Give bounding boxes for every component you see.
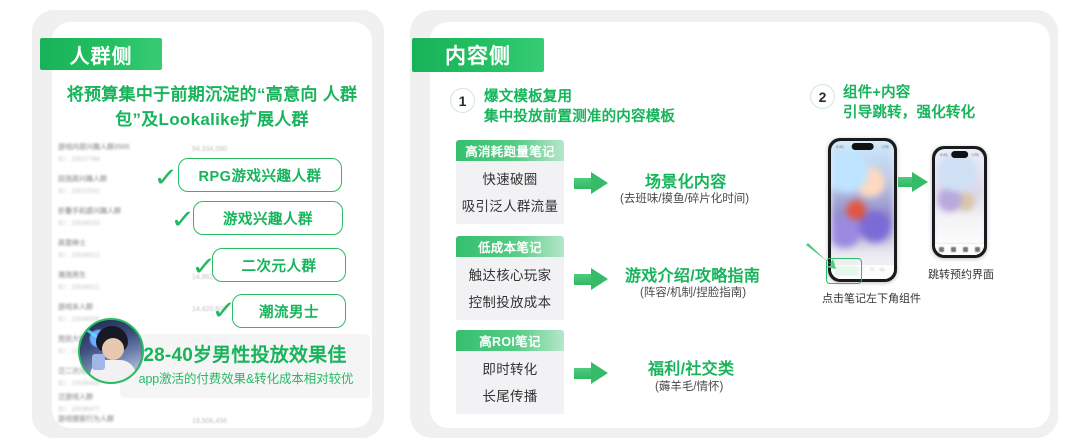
output-title-3: 福利/社交类 bbox=[648, 355, 734, 379]
list-item-name: 折叠手机感兴趣人群 bbox=[58, 206, 121, 216]
note-point: 快速破圈 bbox=[482, 168, 537, 188]
phone-tabbar bbox=[935, 245, 984, 253]
list-item-name: 游戏内容兴趣人群2505 bbox=[58, 142, 130, 152]
arrow-right-icon bbox=[574, 362, 608, 384]
note-point: 吸引泛人群流量 bbox=[462, 195, 559, 215]
list-item-name: 回流高兴趣人群 bbox=[58, 174, 107, 184]
phone-mockup-landing: 9:41 LTE bbox=[932, 146, 987, 258]
left-panel-title: 将预算集中于前期沉淀的“高意向 人群包”及Lookalike扩展人群 bbox=[56, 82, 368, 132]
list-item-id: ID：15036477 bbox=[58, 403, 100, 413]
output-sub-1: (去班味/摸鱼/碎片化时间) bbox=[620, 190, 749, 206]
step-heading-1: 爆文模板复用 集中投放前置测准的内容模板 bbox=[484, 87, 675, 127]
list-item-id: ID：15027766 bbox=[58, 153, 100, 163]
note-point: 长尾传播 bbox=[482, 385, 537, 405]
arrow-right-icon bbox=[574, 268, 608, 290]
list-item-id: ID：15036511 bbox=[58, 281, 99, 291]
status-time: 9:41 bbox=[940, 152, 948, 157]
audience-box-game-interest[interactable]: 游戏兴趣人群 bbox=[193, 201, 343, 235]
pointer-arrow-icon bbox=[806, 243, 840, 269]
output-title-2: 游戏介绍/攻略指南 bbox=[625, 262, 760, 286]
list-item-name: 泛游戏人群 bbox=[58, 392, 93, 402]
list-item-id: ID：15036533 bbox=[58, 217, 100, 227]
note-card-label: 低成本笔记 bbox=[456, 236, 564, 257]
list-item-number: 19,506,456 bbox=[192, 418, 227, 425]
right-section-tag: 内容侧 bbox=[412, 38, 544, 72]
list-item-name: 游戏搜索行为人群 bbox=[58, 414, 114, 424]
audience-box-trendy-men[interactable]: 潮流男士 bbox=[232, 294, 346, 328]
left-section-tag: 人群侧 bbox=[40, 38, 162, 70]
list-item-name: 潮流男生 bbox=[58, 270, 86, 280]
phone-notch bbox=[951, 151, 969, 158]
status-signal: LTE bbox=[882, 144, 889, 149]
list-item-id: ID：15036512 bbox=[58, 249, 100, 259]
checkmark-icon: ✓ bbox=[153, 164, 178, 190]
note-point: 触达核心玩家 bbox=[469, 264, 552, 284]
output-sub-3: (薅羊毛/情怀) bbox=[655, 378, 723, 394]
note-card-points: 触达核心玩家 控制投放成本 bbox=[456, 257, 564, 320]
checkmark-icon: ✓ bbox=[170, 206, 195, 232]
note-action-icons: ♡ ☆ ▭ bbox=[860, 267, 890, 275]
audience-box-acg[interactable]: 二次元人群 bbox=[212, 248, 346, 282]
phone-caption-landing: 跳转预约界面 bbox=[928, 266, 994, 282]
output-sub-2: (阵容/机制/捏脸指南) bbox=[640, 284, 746, 300]
note-card-points: 即时转化 长尾传播 bbox=[456, 351, 564, 414]
step-number-2: 2 bbox=[810, 84, 835, 109]
transition-arrow-icon bbox=[898, 172, 928, 192]
note-card-high-roi[interactable]: 高ROI笔记 即时转化 长尾传播 bbox=[456, 330, 564, 414]
note-card-low-cost[interactable]: 低成本笔记 触达核心玩家 控制投放成本 bbox=[456, 236, 564, 320]
step-number-1: 1 bbox=[450, 88, 475, 113]
note-card-high-spend[interactable]: 高消耗跑量笔记 快速破圈 吸引泛人群流量 bbox=[456, 140, 564, 224]
list-item: 游戏搜索行为人群 ID：15031489 19,506,456 bbox=[52, 414, 372, 425]
list-item-number: 94,334,090 bbox=[192, 146, 227, 153]
list-item-name: 高意绅士 bbox=[58, 238, 86, 248]
highlight-subtitle: app激活的付费效果&转化成本相对较优 bbox=[118, 368, 374, 387]
list-item-name: 游戏本人群 bbox=[58, 302, 93, 312]
infographic-canvas: 人群侧 将预算集中于前期沉淀的“高意向 人群包”及Lookalike扩展人群 游… bbox=[0, 0, 1080, 445]
phone-caption-note: 点击笔记左下角组件 bbox=[822, 290, 921, 306]
audience-box-rpg[interactable]: RPG游戏兴趣人群 bbox=[178, 158, 342, 192]
status-signal: LTE bbox=[972, 152, 979, 157]
note-point: 即时转化 bbox=[482, 358, 537, 378]
step-heading-2: 组件+内容 引导跳转，强化转化 bbox=[843, 83, 975, 123]
output-title-1: 场景化内容 bbox=[645, 168, 727, 192]
arrow-right-icon bbox=[574, 172, 608, 194]
phone-notch bbox=[851, 143, 874, 150]
list-item-id: ID：15037502 bbox=[58, 185, 100, 195]
highlight-title: 28-40岁男性投放效果佳 bbox=[120, 340, 370, 367]
note-card-label: 高ROI笔记 bbox=[456, 330, 564, 351]
note-point: 控制投放成本 bbox=[469, 291, 552, 311]
status-time: 9:41 bbox=[836, 144, 844, 149]
note-card-label: 高消耗跑量笔记 bbox=[456, 140, 564, 161]
note-card-points: 快速破圈 吸引泛人群流量 bbox=[456, 161, 564, 224]
